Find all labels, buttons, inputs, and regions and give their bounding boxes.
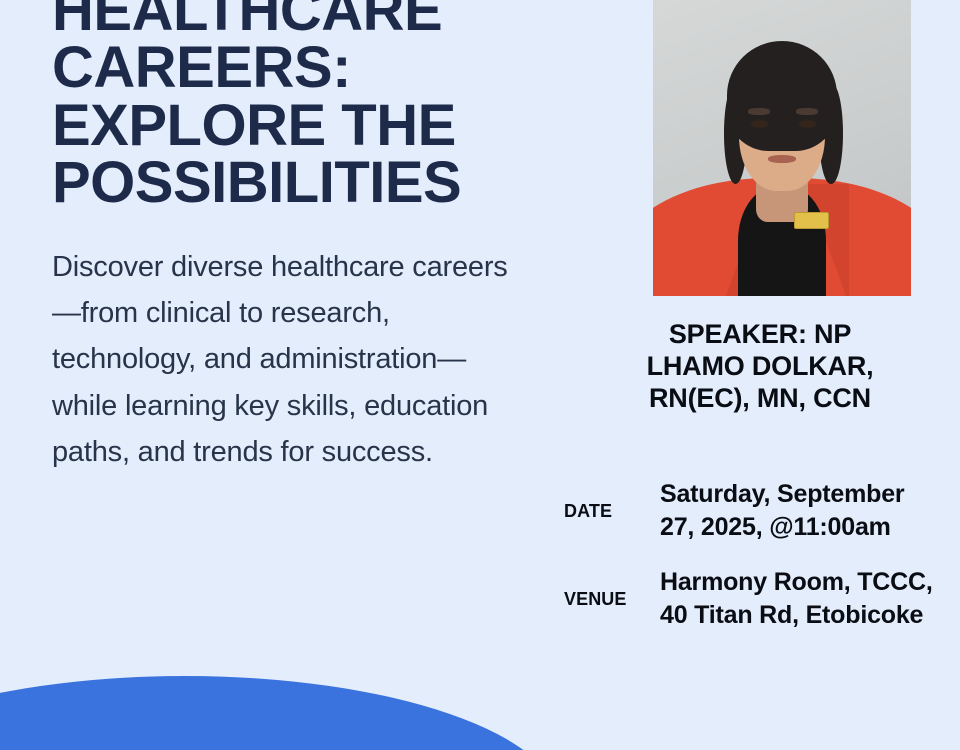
portrait-eyebrow-left [748, 108, 770, 115]
portrait-eye-right [799, 120, 816, 128]
event-details: DATE Saturday, September 27, 2025, @11:0… [560, 478, 960, 654]
headline-line-4: POSSIBILITIES [52, 154, 582, 211]
headline-line-1: HEALTHCARE [52, 0, 582, 39]
headline-line-2: CAREERS: [52, 39, 582, 96]
portrait-mouth [768, 155, 796, 163]
portrait-eyebrow-right [796, 108, 818, 115]
date-value: Saturday, September 27, 2025, @11:00am [660, 478, 960, 544]
speaker-name-line-3: RN(EC), MN, CCN [560, 382, 960, 414]
speaker-name-line-2: LHAMO DOLKAR, [560, 350, 960, 382]
speaker-name-heading: SPEAKER: NP LHAMO DOLKAR, RN(EC), MN, CC… [560, 318, 960, 414]
event-poster: HEALTHCARE CAREERS: EXPLORE THE POSSIBIL… [0, 0, 960, 750]
page-title: HEALTHCARE CAREERS: EXPLORE THE POSSIBIL… [52, 0, 582, 212]
venue-label: VENUE [560, 589, 660, 610]
portrait-name-badge [794, 212, 830, 229]
detail-row-venue: VENUE Harmony Room, TCCC, 40 Titan Rd, E… [560, 566, 960, 632]
speaker-name-line-1: SPEAKER: NP [560, 318, 960, 350]
detail-row-date: DATE Saturday, September 27, 2025, @11:0… [560, 478, 960, 544]
portrait-eye-left [751, 120, 768, 128]
date-value-line-2: 27, 2025, @11:00am [660, 511, 960, 544]
venue-value-line-1: Harmony Room, TCCC, [660, 566, 960, 599]
right-content-column: SPEAKER: NP LHAMO DOLKAR, RN(EC), MN, CC… [560, 0, 960, 750]
portrait-illustration [653, 0, 911, 296]
description-paragraph: Discover diverse healthcare careers—from… [52, 212, 522, 476]
left-content-column: HEALTHCARE CAREERS: EXPLORE THE POSSIBIL… [52, 0, 582, 476]
portrait-hair-top [727, 41, 838, 151]
headline-line-3: EXPLORE THE [52, 97, 582, 154]
decorative-blue-ellipse [0, 676, 560, 750]
date-value-line-1: Saturday, September [660, 478, 960, 511]
venue-value-line-2: 40 Titan Rd, Etobicoke [660, 599, 960, 632]
venue-value: Harmony Room, TCCC, 40 Titan Rd, Etobico… [660, 566, 960, 632]
date-label: DATE [560, 501, 660, 522]
speaker-photo [653, 0, 911, 296]
